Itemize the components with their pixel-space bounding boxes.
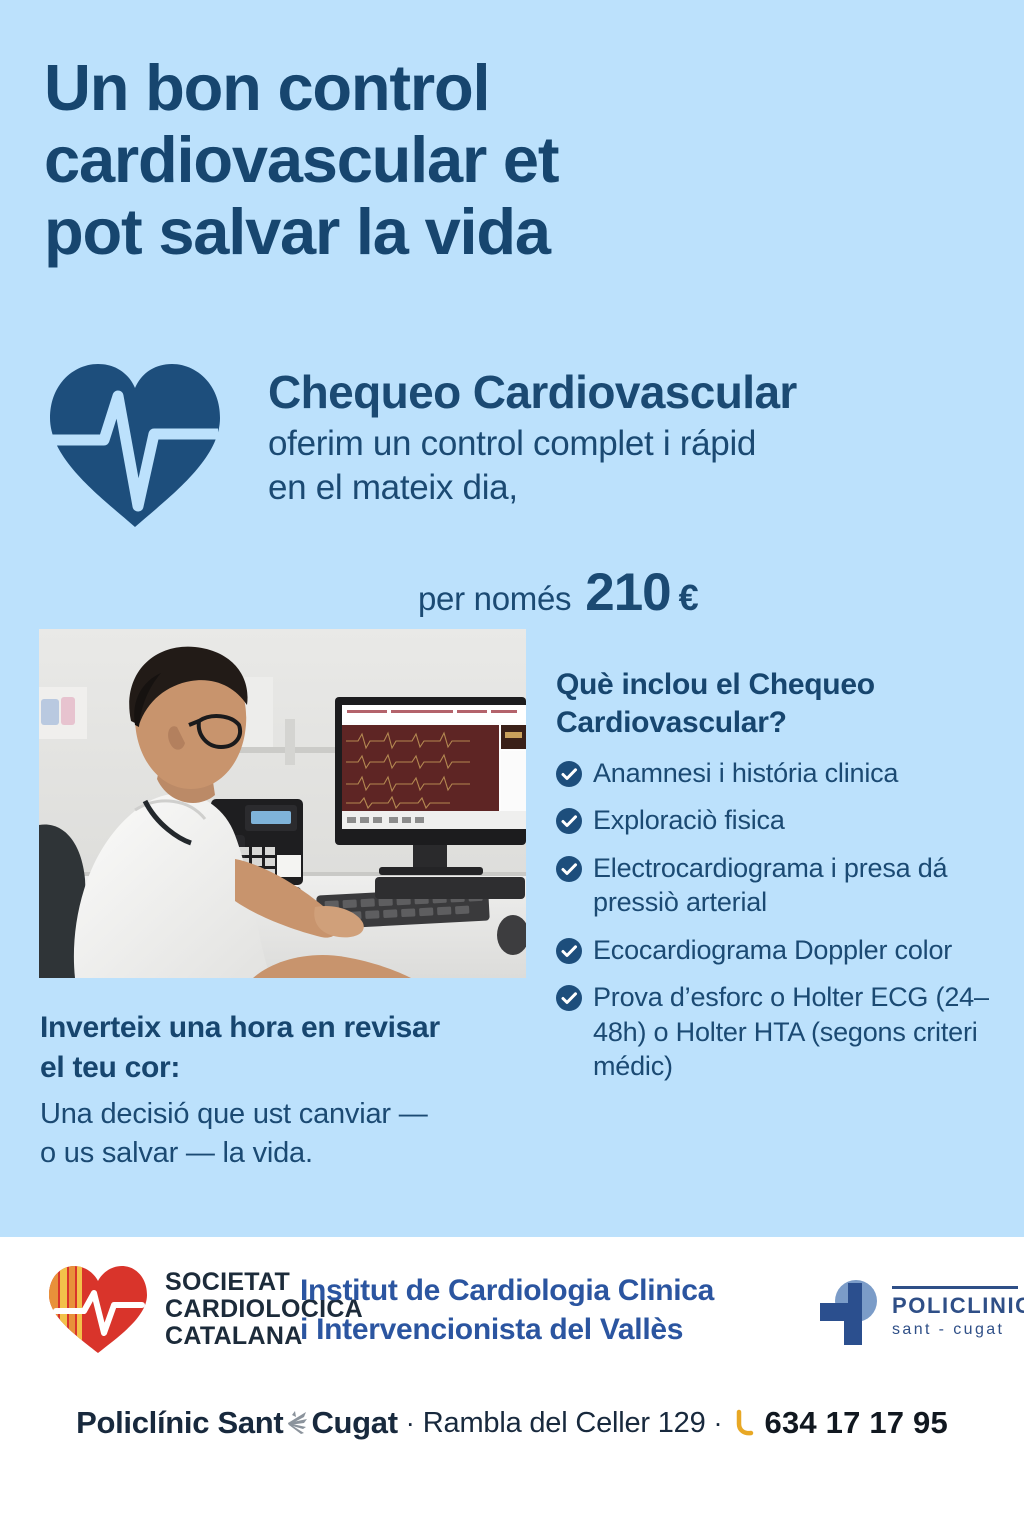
list-item-label: Prova d’esforc o Holter ECG (24–48h) o H… bbox=[593, 980, 1004, 1084]
check-circle-icon bbox=[556, 938, 582, 964]
offer-block: Chequeo Cardiovascular oferim un control… bbox=[268, 368, 988, 510]
left-copy-body-line-1: Una decisió que ust canviar — bbox=[40, 1095, 540, 1134]
offer-sub-line-2: en el mateix dia, bbox=[268, 466, 988, 510]
list-item: Electrocardiograma i presa dá pressiò ar… bbox=[556, 851, 1004, 920]
check-circle-icon bbox=[556, 808, 582, 834]
policlinic-rule bbox=[892, 1286, 1018, 1289]
footer: SOCIETAT CARDIOLOCICA CATALANA Institut … bbox=[0, 1237, 1024, 1536]
check-circle-icon bbox=[556, 985, 582, 1011]
clinician-photo bbox=[39, 629, 526, 978]
left-copy-heading-line-2: el teu cor: bbox=[40, 1048, 540, 1088]
left-copy-block: Inverteix una hora en revisar el teu cor… bbox=[40, 1008, 540, 1173]
list-item-label: Exploraciò fisica bbox=[593, 803, 785, 838]
price-label: per només bbox=[418, 580, 571, 618]
contact-brand-part-1: Policlínic Sant bbox=[76, 1405, 283, 1441]
offer-sub-line-1: oferim un control complet i rápid bbox=[268, 422, 988, 466]
list-item-label: Ecocardiograma Doppler color bbox=[593, 933, 952, 968]
institute-line-2: i Intervencionista del Vallès bbox=[300, 1310, 714, 1349]
contact-separator-1: · bbox=[406, 1408, 415, 1439]
left-copy-heading-line-1: Inverteix una hora en revisar bbox=[40, 1008, 540, 1048]
contact-brand-part-2: Cugat bbox=[311, 1405, 397, 1441]
institute-name: Institut de Cardiologia Clinica i Interv… bbox=[300, 1271, 714, 1349]
left-copy-body: Una decisió que ust canviar — o us salva… bbox=[40, 1095, 540, 1173]
offer-title: Chequeo Cardiovascular bbox=[268, 368, 988, 416]
check-circle-icon bbox=[556, 761, 582, 787]
list-item: Exploraciò fisica bbox=[556, 803, 1004, 838]
page-title: Un bon control cardiovascular et pot sal… bbox=[44, 52, 744, 268]
headline-line-2: cardiovascular et bbox=[44, 124, 744, 196]
heart-pulse-icon bbox=[42, 356, 228, 532]
policlinic-mark-icon bbox=[818, 1277, 884, 1347]
contact-phone-number: 634 17 17 95 bbox=[765, 1405, 948, 1441]
left-copy-heading: Inverteix una hora en revisar el teu cor… bbox=[40, 1008, 540, 1087]
list-item-label: Electrocardiograma i presa dá pressiò ar… bbox=[593, 851, 1004, 920]
price-amount: 210 bbox=[585, 562, 670, 623]
policlinic-logo: POLICLINIC sant - cugat bbox=[818, 1277, 1024, 1347]
contact-bar: Policlínic Sant Cugat · Rambla del Celle… bbox=[0, 1405, 1024, 1441]
checklist-title-line-2: Cardiovascular? bbox=[556, 704, 1004, 742]
list-item: Anamnesi i história clinica bbox=[556, 756, 1004, 791]
check-circle-icon bbox=[556, 856, 582, 882]
offer-subtitle: oferim un control complet i rápid en el … bbox=[268, 422, 988, 510]
left-copy-body-line-2: o us salvar — la vida. bbox=[40, 1134, 540, 1173]
price-row: per només 210 € bbox=[268, 562, 1024, 623]
checklist-title-line-1: Què inclou el Chequeo bbox=[556, 666, 1004, 704]
policlinic-wordmark: POLICLINIC sant - cugat bbox=[892, 1286, 1024, 1338]
checklist-block: Què inclou el Chequeo Cardiovascular? An… bbox=[556, 666, 1004, 1097]
footer-brand-row: SOCIETAT CARDIOLOCICA CATALANA Institut … bbox=[0, 1255, 1024, 1365]
price-currency: € bbox=[679, 577, 699, 619]
headline-line-1: Un bon control bbox=[44, 52, 744, 124]
poster-root: Un bon control cardiovascular et pot sal… bbox=[0, 0, 1024, 1536]
headline-line-3: pot salvar la vida bbox=[44, 196, 744, 268]
fan-icon bbox=[284, 1408, 310, 1438]
contact-address: Rambla del Celler 129 bbox=[423, 1407, 706, 1440]
catalan-flag-heart-pulse-icon bbox=[44, 1261, 152, 1357]
contact-separator-2: · bbox=[714, 1408, 723, 1439]
policlinic-city: sant - cugat bbox=[892, 1322, 1024, 1338]
checklist-title: Què inclou el Chequeo Cardiovascular? bbox=[556, 666, 1004, 742]
list-item: Prova d’esforc o Holter ECG (24–48h) o H… bbox=[556, 980, 1004, 1084]
institute-line-1: Institut de Cardiologia Clinica bbox=[300, 1271, 714, 1310]
list-item-label: Anamnesi i história clinica bbox=[593, 756, 898, 791]
policlinic-name: POLICLINIC bbox=[892, 1295, 1024, 1317]
phone-icon bbox=[733, 1409, 758, 1437]
list-item: Ecocardiograma Doppler color bbox=[556, 933, 1004, 968]
